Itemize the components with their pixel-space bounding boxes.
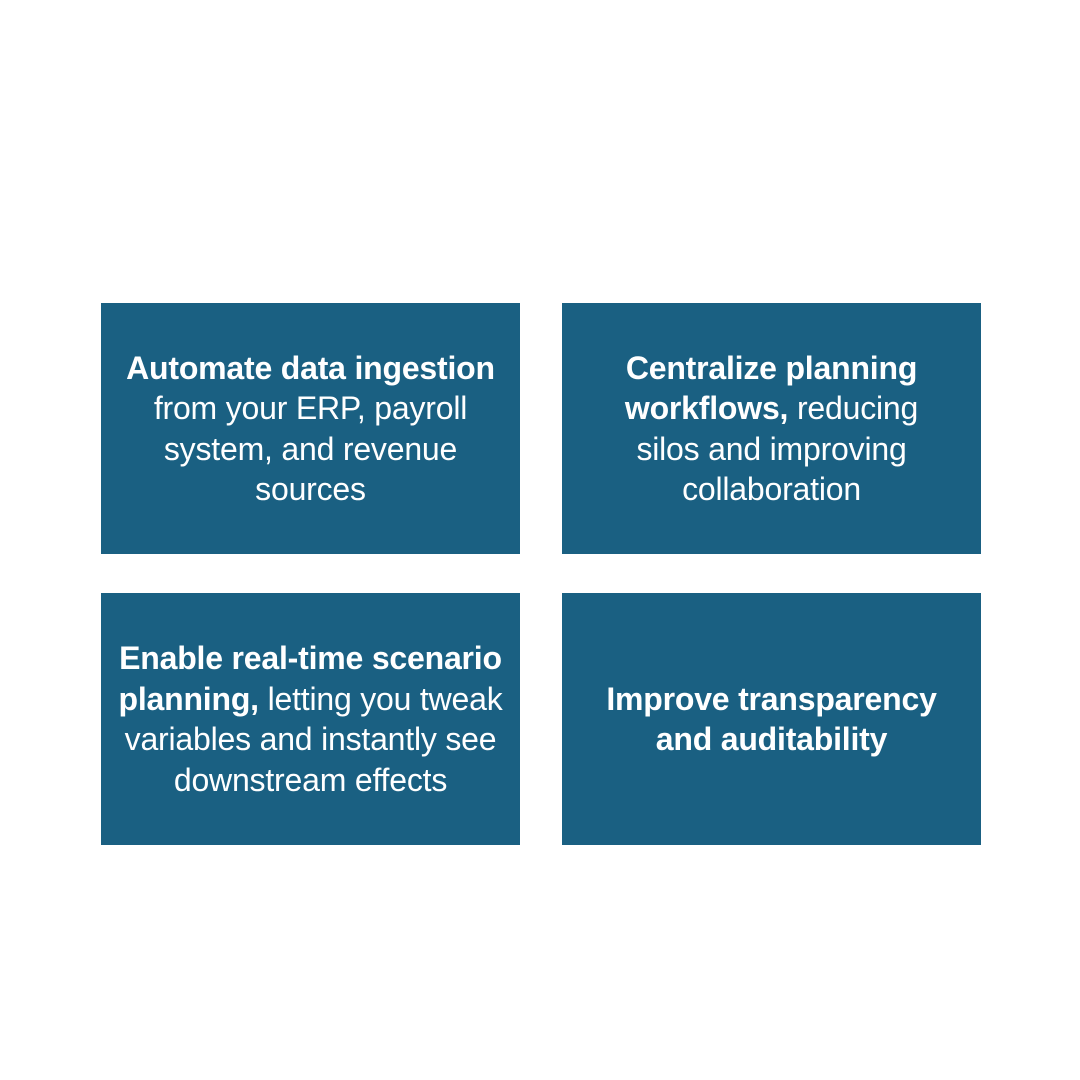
benefit-card-text: Enable real-time scenario planning, lett… — [116, 638, 506, 800]
slide-canvas: Automate data ingestion from your ERP, p… — [0, 0, 1080, 1080]
benefit-card-text: Centralize planning workflows, reducing … — [596, 348, 948, 510]
benefit-card-text: Improve transparency and auditability — [582, 679, 962, 760]
benefit-card-improve-transparency-and-auditability[interactable]: Improve transparency and auditability — [562, 593, 981, 845]
benefit-card-grid: Automate data ingestion from your ERP, p… — [101, 303, 981, 845]
benefit-card-rest: from your ERP, payroll system, and reven… — [154, 390, 467, 507]
benefit-card-automate-data-ingestion[interactable]: Automate data ingestion from your ERP, p… — [101, 303, 520, 554]
benefit-card-lead: Automate data ingestion — [126, 350, 495, 386]
benefit-card-lead: Improve transparency and auditability — [606, 681, 936, 758]
benefit-card-centralize-planning-workflows[interactable]: Centralize planning workflows, reducing … — [562, 303, 981, 554]
benefit-card-text: Automate data ingestion from your ERP, p… — [115, 348, 506, 510]
benefit-card-enable-real-time-scenario-planning[interactable]: Enable real-time scenario planning, lett… — [101, 593, 520, 845]
